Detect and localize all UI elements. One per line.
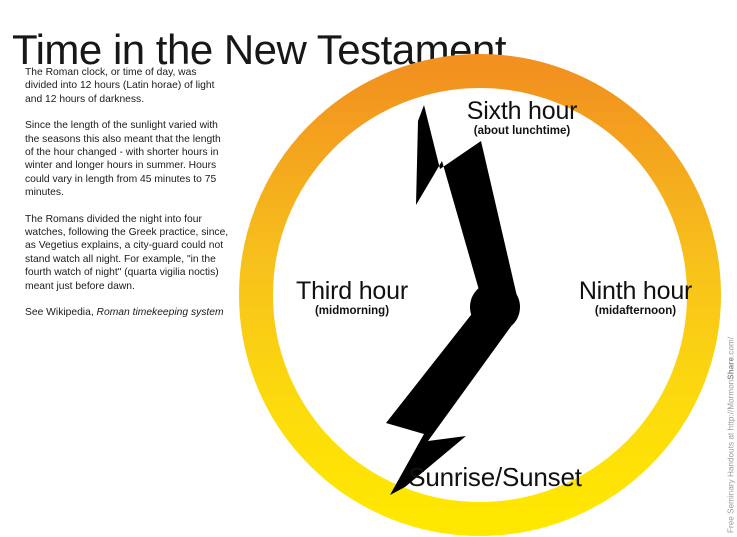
clock-label-sixth-hour-sub: (about lunchtime) <box>432 125 612 139</box>
paragraph-sunlight-variation: Since the length of the sunlight varied … <box>25 119 231 199</box>
source-prefix: See Wikipedia, <box>25 307 97 318</box>
clock-label-third-hour: Third hour (midmorning) <box>272 278 432 319</box>
clock-label-ninth-hour-sub: (midafternoon) <box>548 305 723 319</box>
clock-label-sixth-hour: Sixth hour (about lunchtime) <box>432 98 612 139</box>
paragraph-roman-clock: The Roman clock, or time of day, was div… <box>25 66 231 106</box>
body-copy-column: The Roman clock, or time of day, was div… <box>25 66 231 320</box>
paragraph-night-watches: The Romans divided the night into four w… <box>25 213 231 293</box>
credit-suffix: .com/ <box>727 337 736 357</box>
attribution-credit: Free Seminary Handouts at http://MormonS… <box>724 333 737 533</box>
infographic-page: Time in the New Testament The Roman cloc… <box>0 0 737 537</box>
credit-emphasis: Share <box>727 357 736 380</box>
clock-label-sunrise-sunset: Sunrise/Sunset <box>390 464 600 491</box>
attribution-credit-text: Free Seminary Handouts at http://MormonS… <box>727 337 736 533</box>
clock-label-sixth-hour-main: Sixth hour <box>432 98 612 124</box>
clock-label-sunrise-sunset-main: Sunrise/Sunset <box>390 464 600 491</box>
clock-center-hub <box>470 282 520 332</box>
source-citation: See Wikipedia, Roman timekeeping system <box>25 306 231 319</box>
credit-prefix: Free Seminary Handouts at http://Mormon <box>727 380 736 533</box>
clock-label-third-hour-main: Third hour <box>272 278 432 304</box>
source-title: Roman timekeeping system <box>97 307 224 318</box>
clock-label-ninth-hour-main: Ninth hour <box>548 278 723 304</box>
clock-label-third-hour-sub: (midmorning) <box>272 305 432 319</box>
clock-label-ninth-hour: Ninth hour (midafternoon) <box>548 278 723 319</box>
